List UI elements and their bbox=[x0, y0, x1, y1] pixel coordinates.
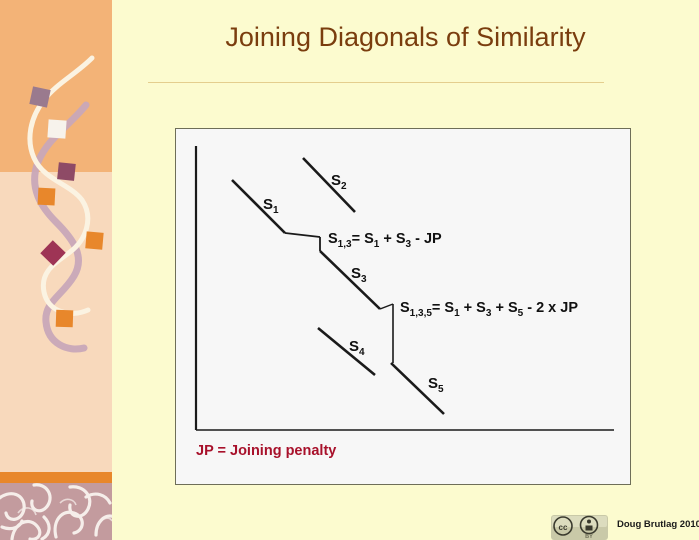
author-credit: Doug Brutlag 2010 bbox=[617, 519, 699, 530]
sidebar-square-mauve-1 bbox=[29, 86, 50, 107]
sidebar-square-plum bbox=[57, 162, 76, 181]
svg-text:cc: cc bbox=[559, 523, 568, 532]
sidebar-square-orange-1 bbox=[38, 188, 56, 206]
page-title: Joining Diagonals of Similarity bbox=[112, 22, 699, 53]
join-horizontal-1 bbox=[285, 233, 320, 237]
cc-by-badge[interactable]: cc BY bbox=[551, 515, 608, 540]
sidebar-curve-graphic bbox=[0, 0, 112, 483]
sidebar-accent-bar bbox=[0, 472, 112, 483]
label-s1: S1 bbox=[263, 196, 279, 216]
sidebar-square-orange-2 bbox=[85, 231, 103, 249]
sidebar-square-orange-3 bbox=[56, 310, 74, 328]
formula-s13: S1,3= S1 + S3 - JP bbox=[328, 231, 442, 250]
label-s3: S3 bbox=[351, 265, 367, 285]
formula-s135: S1,3,5= S1 + S3 + S5 - 2 x JP bbox=[400, 300, 578, 319]
diagonal-s3-line bbox=[320, 251, 380, 309]
svg-text:BY: BY bbox=[585, 534, 593, 540]
diagonal-s2-line bbox=[303, 158, 355, 212]
sidebar-square-crimson bbox=[40, 240, 65, 265]
join-horizontal-2 bbox=[380, 304, 393, 309]
title-divider bbox=[148, 82, 604, 83]
decorative-sidebar bbox=[0, 0, 112, 540]
label-s4: S4 bbox=[349, 338, 365, 358]
label-s2: S2 bbox=[331, 172, 347, 192]
label-s5: S5 bbox=[428, 375, 444, 395]
joining-penalty-note: JP = Joining penalty bbox=[196, 443, 336, 459]
diagonal-s4-line bbox=[318, 328, 375, 375]
sidebar-square-white bbox=[47, 119, 66, 138]
slide-canvas: Joining Diagonals of Similarity S1 S2 S3… bbox=[0, 0, 699, 540]
sidebar-paisley-pattern bbox=[0, 483, 112, 540]
